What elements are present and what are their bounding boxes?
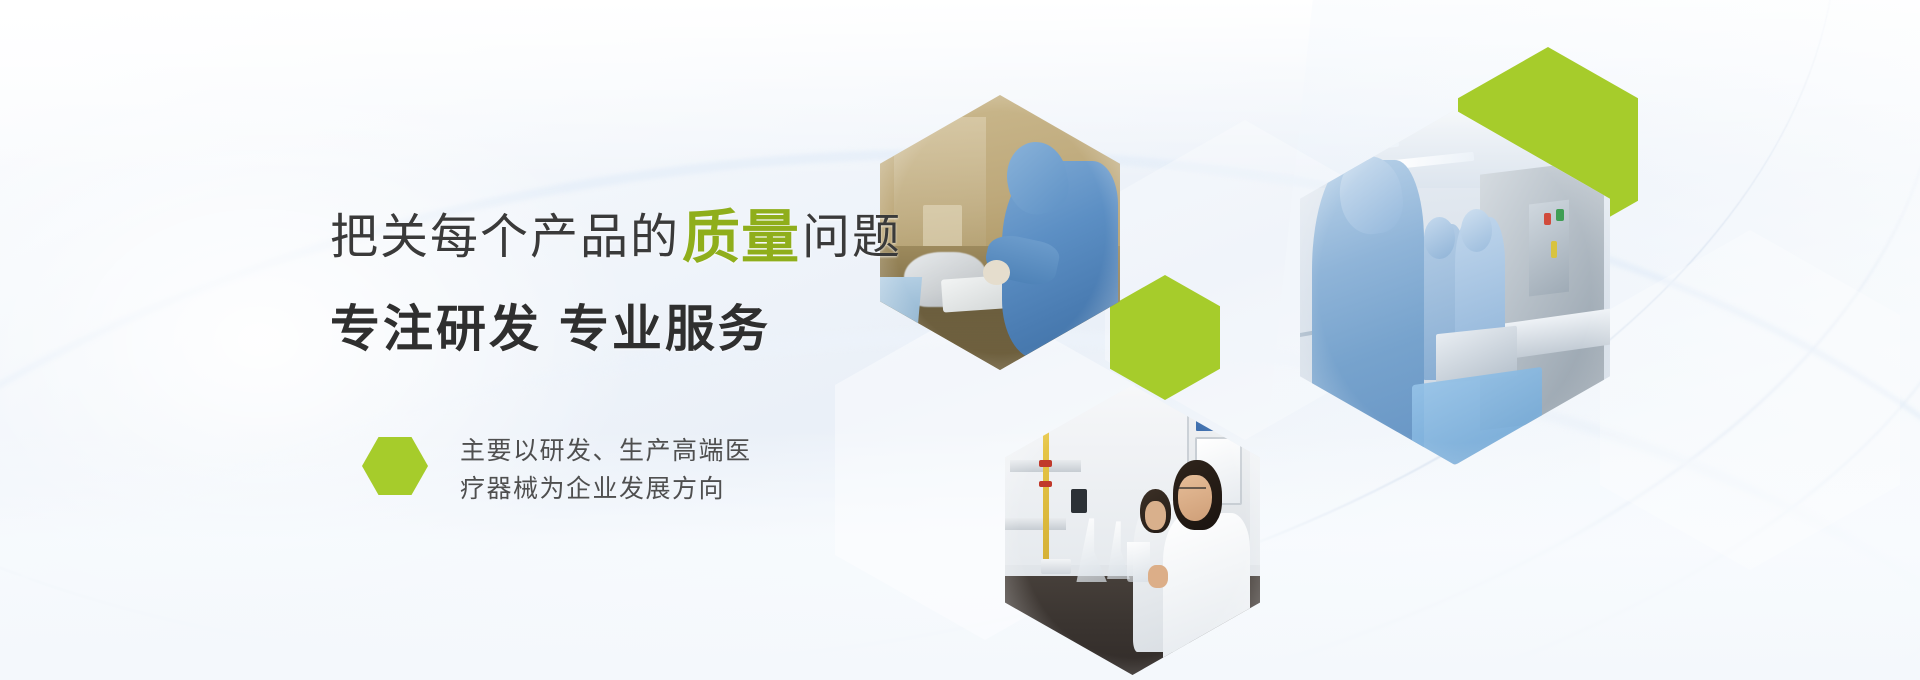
headline: 把关每个产品的质量问题 bbox=[330, 205, 902, 263]
green-hexagon-bullet-icon bbox=[362, 437, 428, 495]
white-hexagon-overlay-far-right bbox=[1600, 230, 1900, 570]
scene-cleanroom-worker bbox=[880, 95, 1120, 370]
blurb-line-2: 疗器械为企业发展方向 bbox=[460, 471, 752, 509]
hero-text-block: 把关每个产品的质量问题 专注研发 专业服务 主要以研发、生产高端医 疗器械为企业… bbox=[330, 205, 902, 508]
photo-cleanroom-worker-packaging bbox=[880, 95, 1120, 370]
blurb-text: 主要以研发、生产高端医 疗器械为企业发展方向 bbox=[460, 433, 752, 508]
headline-prefix: 把关每个产品的 bbox=[330, 211, 680, 264]
subheadline: 专注研发 专业服务 bbox=[330, 289, 902, 361]
headline-accent: 质量 bbox=[680, 205, 802, 270]
blurb-row: 主要以研发、生产高端医 疗器械为企业发展方向 bbox=[362, 433, 902, 508]
blurb-line-1: 主要以研发、生产高端医 bbox=[460, 433, 752, 471]
hero-banner: 把关每个产品的质量问题 专注研发 专业服务 主要以研发、生产高端医 疗器械为企业… bbox=[0, 0, 1920, 680]
headline-suffix: 问题 bbox=[802, 211, 902, 264]
